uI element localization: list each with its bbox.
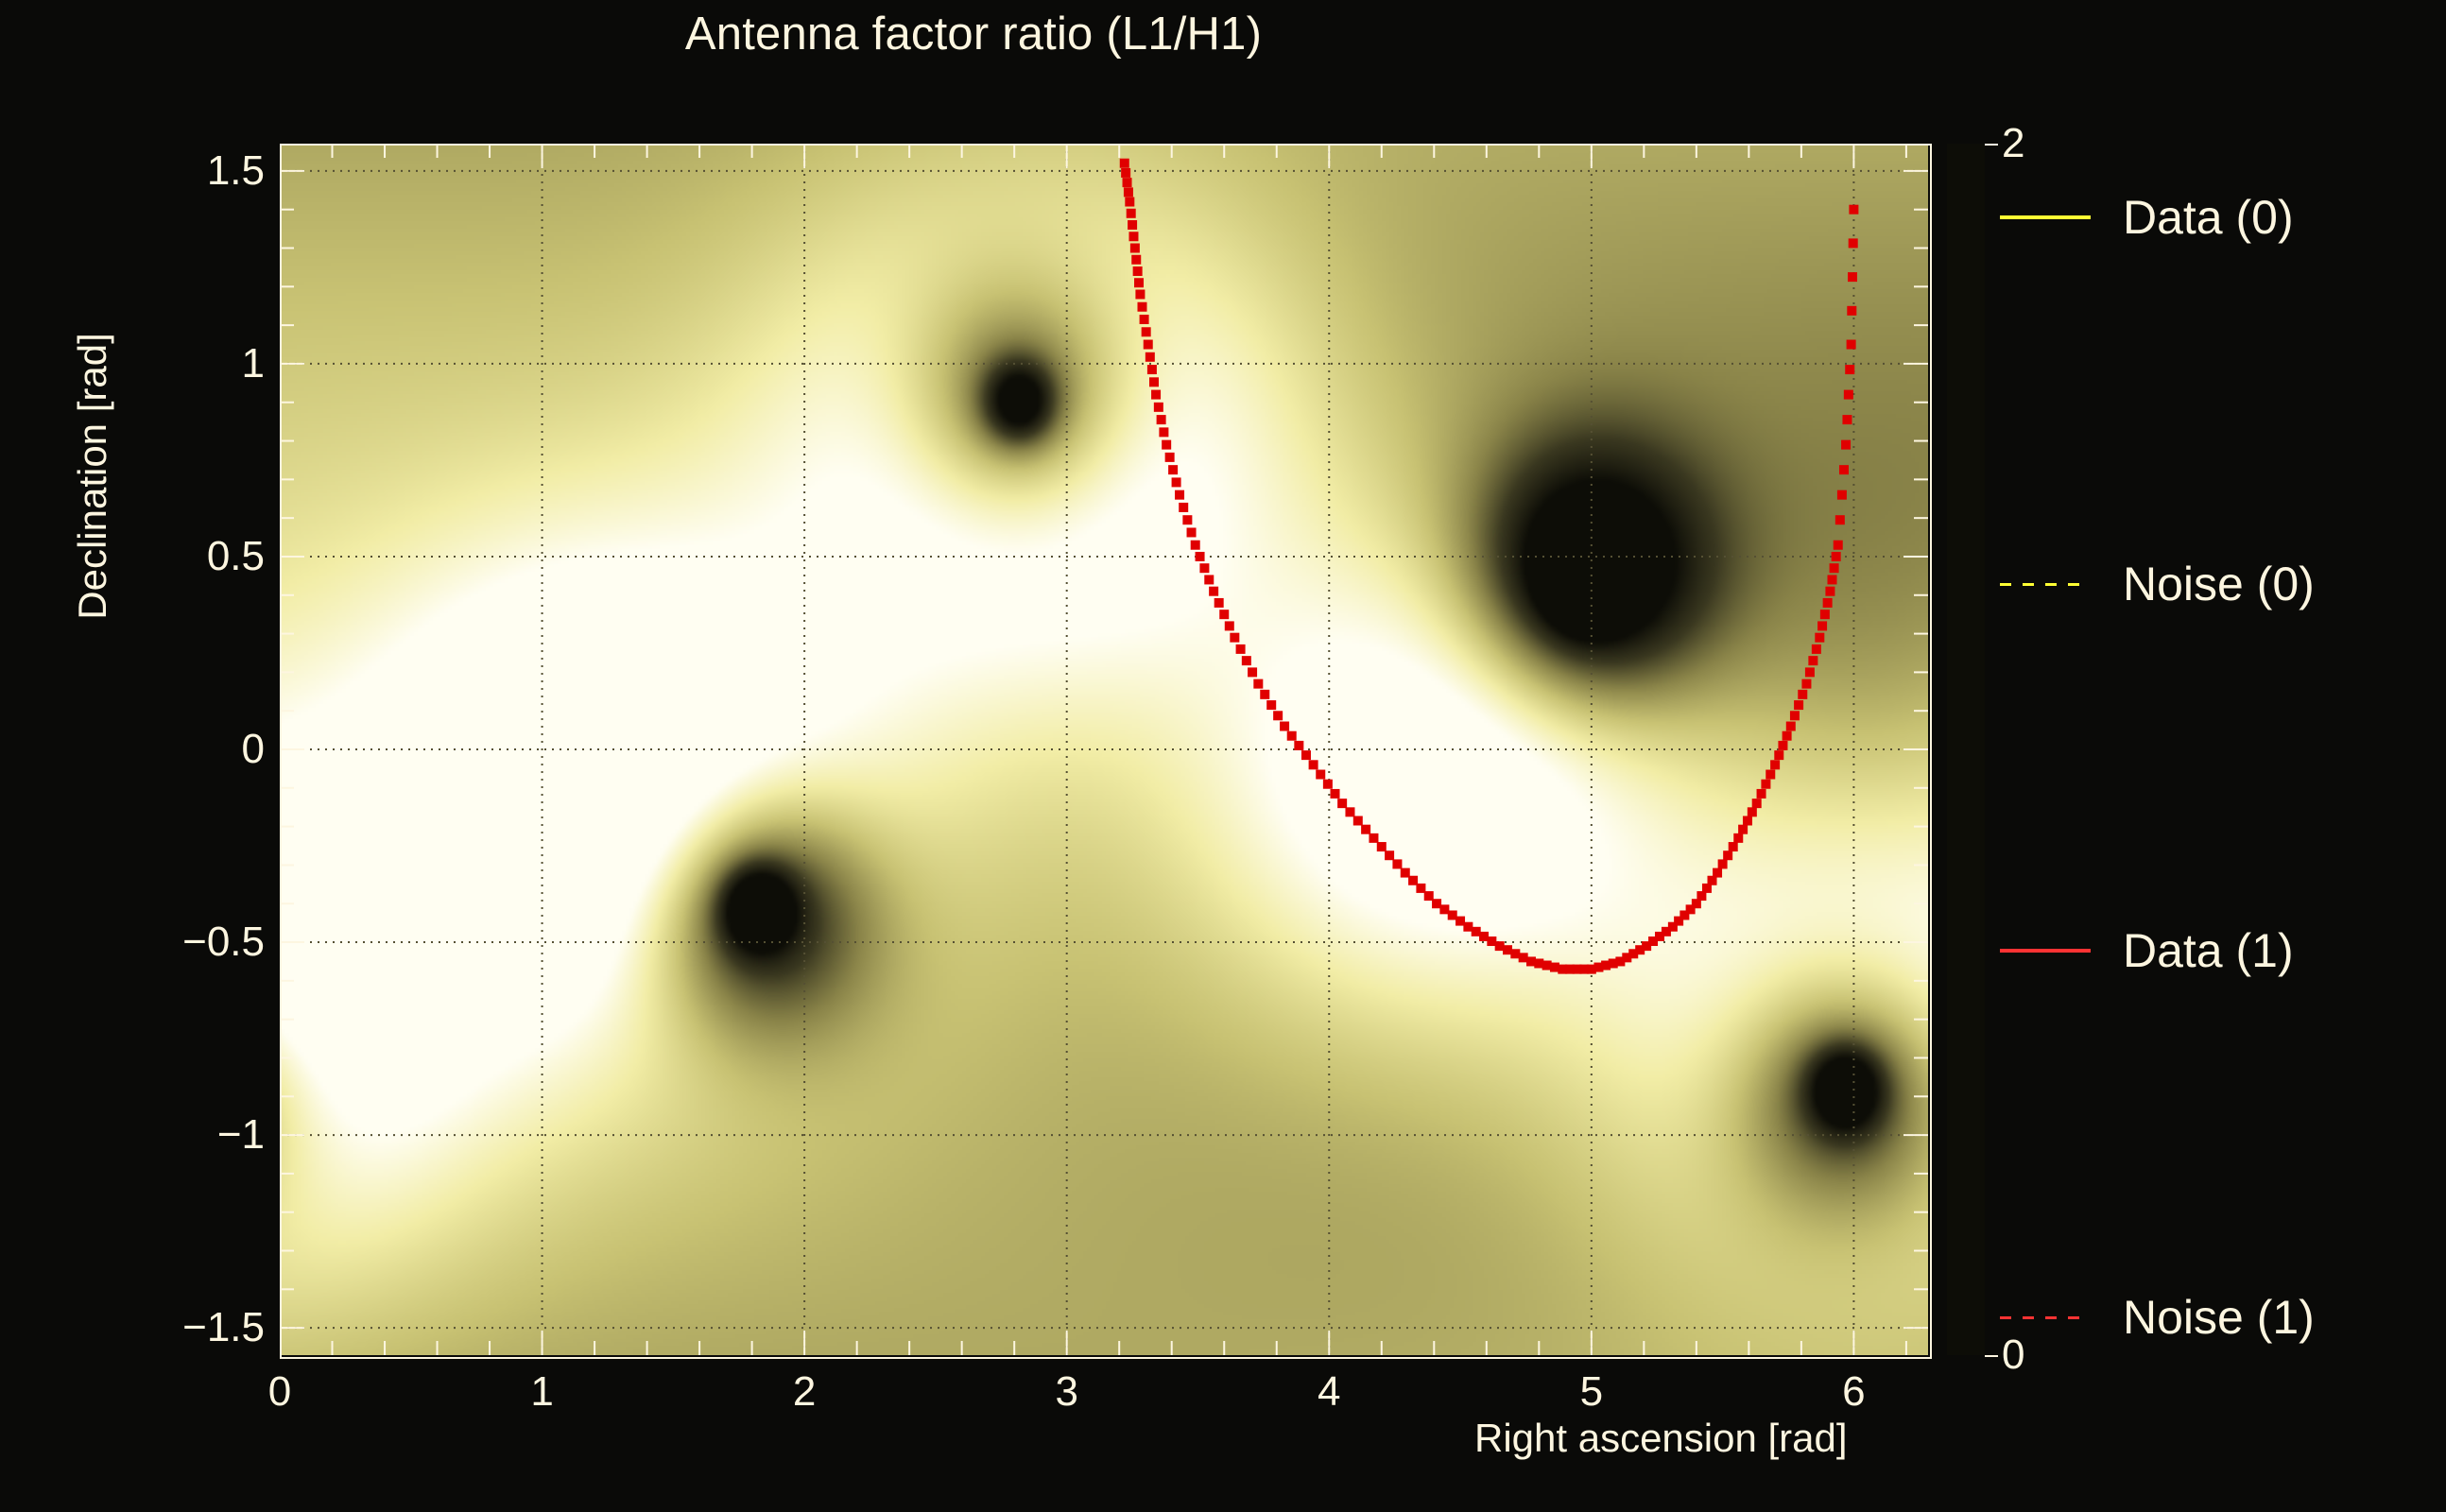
legend-line-icon: [2000, 215, 2091, 219]
overlay-curve-noise-1: [280, 144, 1928, 1355]
x-tick-label: 1: [530, 1368, 553, 1416]
x-tick-label: 3: [1055, 1368, 1077, 1416]
legend-item[interactable]: Noise (1): [2000, 1280, 2446, 1355]
legend-line-icon: [2000, 1316, 2091, 1319]
x-tick-label: 5: [1580, 1368, 1603, 1416]
x-tick-label: 4: [1318, 1368, 1340, 1416]
y-tick-label: −1: [38, 1111, 265, 1159]
legend-item[interactable]: Noise (0): [2000, 546, 2446, 622]
x-tick-label: 0: [268, 1368, 291, 1416]
page-title: Antenna factor ratio (L1/H1): [0, 8, 1947, 60]
legend: Data (0)Noise (0)Data (1)Noise (1): [2000, 142, 2446, 1361]
legend-item[interactable]: Data (1): [2000, 913, 2446, 988]
x-axis-title: Right ascension [rad]: [1474, 1416, 1848, 1461]
y-tick-label: 0: [38, 726, 265, 773]
colorbar-tick: [1985, 144, 1998, 146]
y-tick-label: −1.5: [38, 1304, 265, 1351]
plot-area: [280, 144, 1928, 1355]
plot-root: Antenna factor ratio (L1/H1) 1.510.50−0.…: [0, 0, 2446, 1512]
x-tick-label: 2: [793, 1368, 816, 1416]
legend-label: Noise (1): [2123, 1290, 2315, 1345]
colorbar: [1947, 144, 1985, 1355]
colorbar-gradient: [1947, 144, 1985, 1355]
legend-label: Noise (0): [2123, 557, 2315, 611]
legend-label: Data (1): [2123, 923, 2294, 978]
legend-line-icon: [2000, 583, 2091, 586]
legend-item[interactable]: Data (0): [2000, 180, 2446, 255]
x-tick-label: 6: [1842, 1368, 1865, 1416]
legend-label: Data (0): [2123, 190, 2294, 245]
y-tick-label: 1.5: [38, 147, 265, 195]
legend-line-icon: [2000, 949, 2091, 953]
y-tick-label: −0.5: [38, 919, 265, 966]
colorbar-tick: [1985, 1355, 1998, 1357]
y-axis-title: Declination [rad]: [70, 316, 115, 637]
